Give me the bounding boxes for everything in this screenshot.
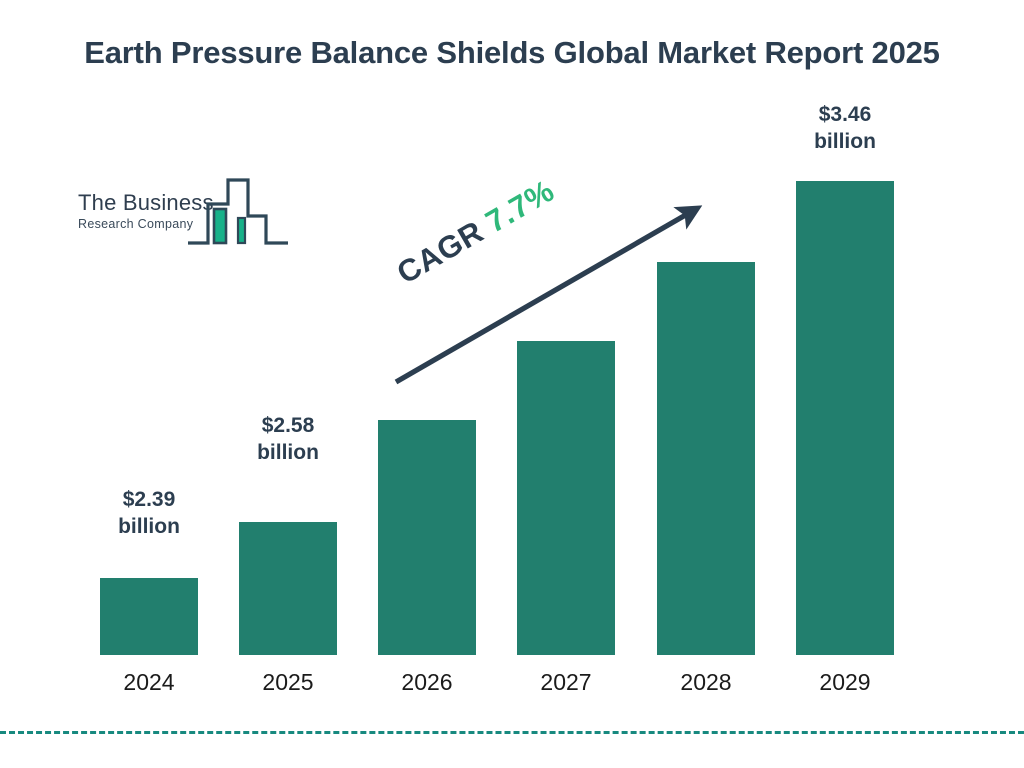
bar-2026[interactable] xyxy=(378,420,476,655)
bar-chart-plot-area: $2.39billion2024$2.58billion202520262027… xyxy=(0,0,1024,768)
bar-value-label-2025: $2.58billion xyxy=(213,413,363,467)
bar-2028[interactable] xyxy=(657,262,755,655)
bar-value-amount-2024: $2.39 xyxy=(74,487,224,514)
bar-value-unit-2025: billion xyxy=(213,440,363,467)
footer-divider xyxy=(0,731,1024,734)
bar-value-label-2029: $3.46billion xyxy=(770,102,920,156)
x-axis-tick-2025: 2025 xyxy=(213,669,363,696)
x-axis-tick-2024: 2024 xyxy=(74,669,224,696)
bar-value-label-2024: $2.39billion xyxy=(74,487,224,541)
x-axis-tick-2029: 2029 xyxy=(770,669,920,696)
bar-value-unit-2024: billion xyxy=(74,514,224,541)
bar-value-amount-2025: $2.58 xyxy=(213,413,363,440)
bar-2029[interactable] xyxy=(796,181,894,655)
x-axis-tick-2026: 2026 xyxy=(352,669,502,696)
bar-2027[interactable] xyxy=(517,341,615,655)
x-axis-tick-2028: 2028 xyxy=(631,669,781,696)
bar-2024[interactable] xyxy=(100,578,198,655)
chart-canvas: Earth Pressure Balance Shields Global Ma… xyxy=(0,0,1024,768)
x-axis-tick-2027: 2027 xyxy=(491,669,641,696)
bar-value-amount-2029: $3.46 xyxy=(770,102,920,129)
bar-2025[interactable] xyxy=(239,522,337,655)
bar-value-unit-2029: billion xyxy=(770,129,920,156)
